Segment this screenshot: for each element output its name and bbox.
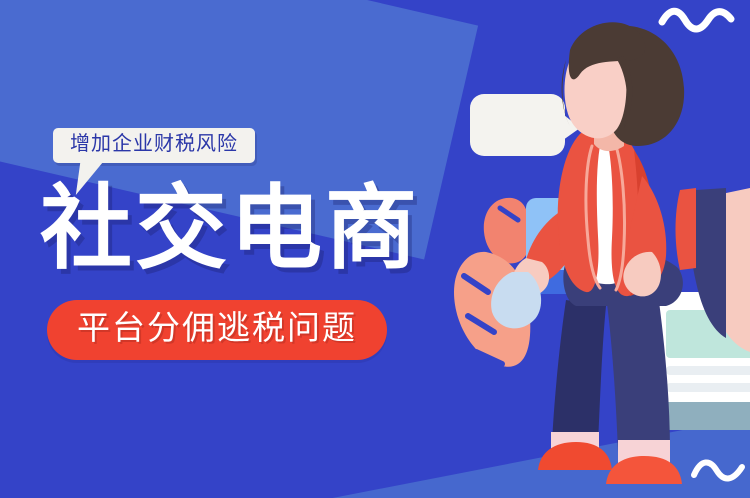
text-block: 增加企业财税风险 社交电商 平台分佣逃税问题 bbox=[0, 0, 440, 498]
illustration-svg bbox=[420, 0, 750, 498]
promo-banner: 增加企业财税风险 社交电商 平台分佣逃税问题 bbox=[0, 0, 750, 498]
illustration-speech-bubble bbox=[470, 94, 580, 156]
subtitle-speech-bubble-text: 增加企业财税风险 bbox=[70, 133, 238, 156]
tagline-pill: 平台分佣逃税问题 bbox=[47, 300, 387, 360]
illustration bbox=[420, 0, 750, 498]
page-title: 社交电商 bbox=[40, 183, 420, 275]
tagline-pill-text: 平台分佣逃税问题 bbox=[77, 309, 357, 347]
subtitle-speech-bubble: 增加企业财税风险 bbox=[53, 128, 255, 163]
